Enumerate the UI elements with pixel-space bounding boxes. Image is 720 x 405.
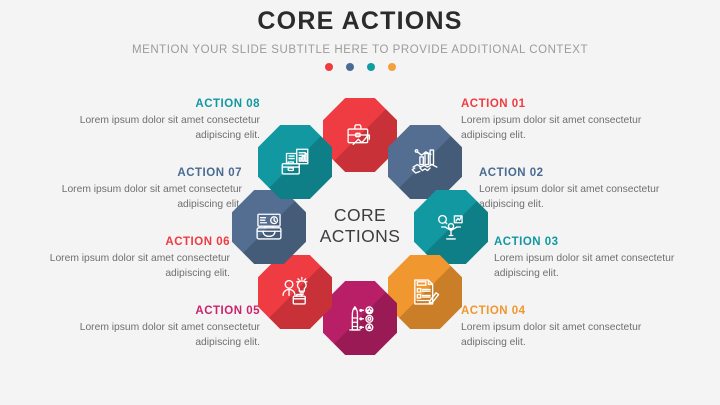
person-lightbulb-idea-icon xyxy=(278,275,312,309)
briefcase-documents-chart-icon xyxy=(278,145,312,179)
item-label-action-05: ACTION 05 xyxy=(48,305,260,317)
item-block-action-05[interactable]: ACTION 05 Lorem ipsum dolor sit amet con… xyxy=(48,305,260,351)
item-block-action-03[interactable]: ACTION 03 Lorem ipsum dolor sit amet con… xyxy=(494,236,706,282)
item-label-action-07: ACTION 07 xyxy=(30,167,242,179)
item-block-action-02[interactable]: ACTION 02 Lorem ipsum dolor sit amet con… xyxy=(479,167,691,213)
slide-header: CORE ACTIONS MENTION YOUR SLIDE SUBTITLE… xyxy=(0,0,720,71)
rocket-network-nodes-icon xyxy=(343,301,377,335)
dot-teal xyxy=(367,63,375,71)
item-description-action-01: Lorem ipsum dolor sit amet consectetur a… xyxy=(461,114,673,144)
dot-navy xyxy=(346,63,354,71)
item-label-action-01: ACTION 01 xyxy=(461,98,673,110)
item-description-action-04: Lorem ipsum dolor sit amet consectetur a… xyxy=(461,321,673,351)
item-label-action-04: ACTION 04 xyxy=(461,305,673,317)
octagon-action-05[interactable] xyxy=(323,281,397,355)
octagon-action-02[interactable] xyxy=(388,125,462,199)
page-title: CORE ACTIONS xyxy=(0,8,720,36)
octagon-action-08[interactable] xyxy=(258,125,332,199)
item-label-action-06: ACTION 06 xyxy=(18,236,230,248)
briefcase-growth-chart-icon xyxy=(343,118,377,152)
person-presentation-idea-icon xyxy=(434,210,468,244)
octagon-action-07[interactable] xyxy=(232,190,306,264)
page-subtitle: MENTION YOUR SLIDE SUBTITLE HERE TO PROV… xyxy=(0,44,720,56)
item-description-action-02: Lorem ipsum dolor sit amet consectetur a… xyxy=(479,183,691,213)
center-line-2: ACTIONS xyxy=(320,226,401,247)
slide-canvas: CORE ACTIONS MENTION YOUR SLIDE SUBTITLE… xyxy=(0,0,720,405)
item-block-action-01[interactable]: ACTION 01 Lorem ipsum dolor sit amet con… xyxy=(461,98,673,144)
item-block-action-06[interactable]: ACTION 06 Lorem ipsum dolor sit amet con… xyxy=(18,236,230,282)
briefcase-whiteboard-clock-icon xyxy=(252,210,286,244)
item-label-action-03: ACTION 03 xyxy=(494,236,706,248)
handshake-bar-chart-icon xyxy=(408,145,442,179)
item-label-action-08: ACTION 08 xyxy=(48,98,260,110)
item-description-action-08: Lorem ipsum dolor sit amet consectetur a… xyxy=(48,114,260,144)
center-line-1: CORE xyxy=(334,205,386,226)
dot-red xyxy=(325,63,333,71)
octagon-action-04[interactable] xyxy=(388,255,462,329)
item-block-action-04[interactable]: ACTION 04 Lorem ipsum dolor sit amet con… xyxy=(461,305,673,351)
octagon-action-01[interactable] xyxy=(323,98,397,172)
checklist-pencil-icon xyxy=(408,275,442,309)
item-description-action-07: Lorem ipsum dolor sit amet consectetur a… xyxy=(30,183,242,213)
item-description-action-03: Lorem ipsum dolor sit amet consectetur a… xyxy=(494,252,706,282)
item-block-action-08[interactable]: ACTION 08 Lorem ipsum dolor sit amet con… xyxy=(48,98,260,144)
item-block-action-07[interactable]: ACTION 07 Lorem ipsum dolor sit amet con… xyxy=(30,167,242,213)
decorative-dots xyxy=(0,63,720,71)
dot-orange xyxy=(388,63,396,71)
item-description-action-06: Lorem ipsum dolor sit amet consectetur a… xyxy=(18,252,230,282)
octagon-wheel: CORE ACTIONS xyxy=(232,98,488,354)
octagon-action-03[interactable] xyxy=(414,190,488,264)
item-label-action-02: ACTION 02 xyxy=(479,167,691,179)
item-description-action-05: Lorem ipsum dolor sit amet consectetur a… xyxy=(48,321,260,351)
octagon-action-06[interactable] xyxy=(258,255,332,329)
